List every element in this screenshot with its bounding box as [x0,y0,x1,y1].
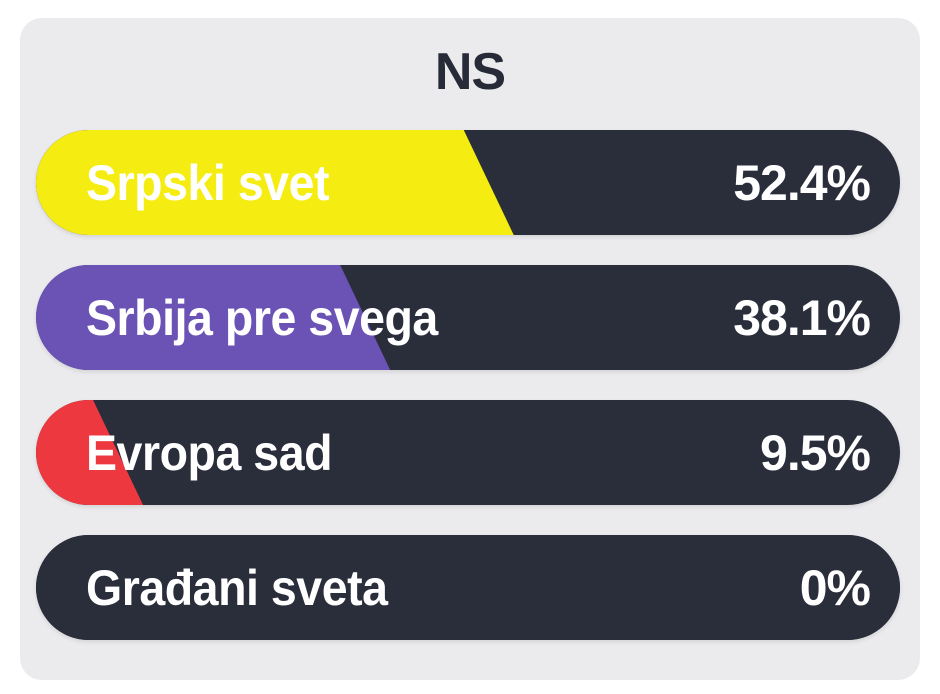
bar-value: 9.5% [760,428,870,478]
bar-chart: Srpski svet 52.4% Srbija pre svega 38.1%… [36,130,900,640]
bar-row[interactable]: Evropa sad 9.5% [36,400,900,505]
bar-label: Srbija pre svega [86,293,438,343]
bar-content: Srbija pre svega 38.1% [36,265,900,370]
bar-content: Evropa sad 9.5% [36,400,900,505]
bar-value: 38.1% [733,293,870,343]
bar-row[interactable]: Srbija pre svega 38.1% [36,265,900,370]
bar-value: 52.4% [733,158,870,208]
bar-row[interactable]: Građani sveta 0% [36,535,900,640]
bar-content: Srpski svet 52.4% [36,130,900,235]
bar-row[interactable]: Srpski svet 52.4% [36,130,900,235]
bar-label: Građani sveta [86,563,388,613]
bar-content: Građani sveta 0% [36,535,900,640]
poll-result-card: NS Srpski svet 52.4% Srbija pre svega 38… [20,18,920,680]
bar-label: Evropa sad [86,428,332,478]
page-title: NS [20,42,920,102]
bar-value: 0% [800,563,870,613]
bar-label: Srpski svet [86,158,329,208]
